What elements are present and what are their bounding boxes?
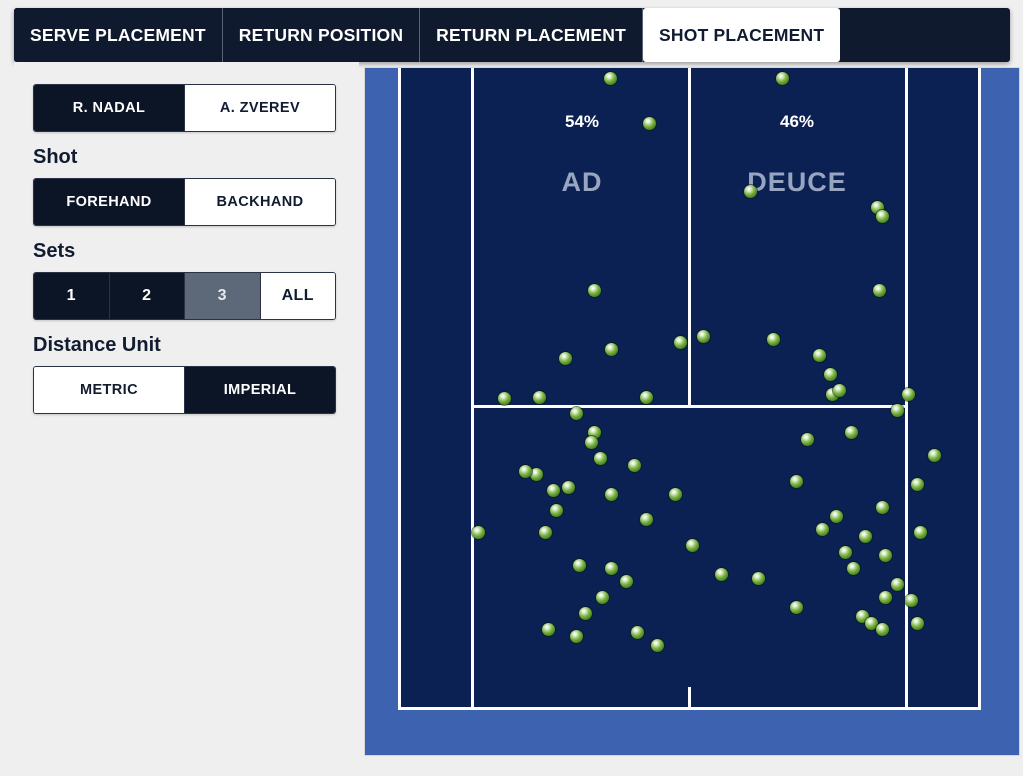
distance-option-imperial[interactable]: IMPERIAL xyxy=(185,367,335,413)
shot-dot xyxy=(640,513,653,526)
shot-dot xyxy=(902,388,915,401)
shot-dot xyxy=(876,623,889,636)
shot-dot xyxy=(847,562,860,575)
baseline-center-mark xyxy=(688,687,691,707)
shot-dot xyxy=(824,368,837,381)
sets-group-label: Sets xyxy=(33,240,359,263)
tab-bar: SERVE PLACEMENT RETURN POSITION RETURN P… xyxy=(14,8,1010,62)
shot-dot xyxy=(651,639,664,652)
center-service-line xyxy=(688,67,691,408)
shot-dot xyxy=(891,404,904,417)
shot-dot xyxy=(697,330,710,343)
deuce-zone-percent: 46% xyxy=(686,112,908,132)
shot-dot xyxy=(905,594,918,607)
sets-option-2[interactable]: 2 xyxy=(110,273,186,319)
player-option-zverev[interactable]: A. ZVEREV xyxy=(185,85,335,131)
shot-dot xyxy=(620,575,633,588)
shot-option-backhand[interactable]: BACKHAND xyxy=(185,179,335,225)
shot-option-forehand[interactable]: FOREHAND xyxy=(34,179,185,225)
shot-dot xyxy=(605,562,618,575)
shot-dot xyxy=(519,465,532,478)
shot-dot xyxy=(879,591,892,604)
shot-dot xyxy=(752,572,765,585)
shot-dot xyxy=(790,475,803,488)
shot-dot xyxy=(928,449,941,462)
tennis-court: 54% 46% AD DEUCE xyxy=(398,67,981,710)
shot-dot xyxy=(631,626,644,639)
shot-dot xyxy=(594,452,607,465)
shot-dot xyxy=(876,501,889,514)
shot-dot xyxy=(628,459,641,472)
shot-dot xyxy=(530,468,543,481)
sets-option-1[interactable]: 1 xyxy=(34,273,110,319)
shot-dot xyxy=(588,284,601,297)
shot-dot xyxy=(686,539,699,552)
shot-dot xyxy=(674,336,687,349)
shot-dot xyxy=(542,623,555,636)
shot-dot xyxy=(570,630,583,643)
shot-dot xyxy=(744,185,757,198)
tab-return-position[interactable]: RETURN POSITION xyxy=(223,8,420,62)
shot-group-label: Shot xyxy=(33,146,359,169)
player-option-nadal[interactable]: R. NADAL xyxy=(34,85,185,131)
shot-dot xyxy=(559,352,572,365)
shot-dot xyxy=(911,617,924,630)
tab-shot-placement[interactable]: SHOT PLACEMENT xyxy=(643,8,840,62)
shot-dot xyxy=(891,578,904,591)
sidebar-filters: R. NADAL A. ZVEREV Shot FOREHAND BACKHAN… xyxy=(14,62,359,768)
shot-dot xyxy=(596,591,609,604)
shot-dot xyxy=(873,284,886,297)
ad-zone-label: AD xyxy=(471,167,693,198)
shot-dot xyxy=(573,559,586,572)
shot-dot xyxy=(845,426,858,439)
player-toggle-group: R. NADAL A. ZVEREV xyxy=(33,84,336,132)
shot-dot xyxy=(498,392,511,405)
shot-dot xyxy=(605,343,618,356)
shot-dot xyxy=(776,72,789,85)
shot-dot xyxy=(813,349,826,362)
sets-option-3[interactable]: 3 xyxy=(185,273,261,319)
shot-dot xyxy=(547,484,560,497)
ad-zone-percent: 54% xyxy=(471,112,693,132)
shot-dot xyxy=(801,433,814,446)
shot-dot xyxy=(859,530,872,543)
shot-dot xyxy=(533,391,546,404)
distance-unit-toggle-group: METRIC IMPERIAL xyxy=(33,366,336,414)
shot-dot xyxy=(643,117,656,130)
shot-dot xyxy=(550,504,563,517)
shot-dot xyxy=(879,549,892,562)
shot-dot xyxy=(472,526,485,539)
shot-dot xyxy=(640,391,653,404)
distance-unit-group-label: Distance Unit xyxy=(33,334,359,357)
shot-dot xyxy=(767,333,780,346)
distance-option-metric[interactable]: METRIC xyxy=(34,367,185,413)
tab-serve-placement[interactable]: SERVE PLACEMENT xyxy=(14,8,223,62)
shot-dot xyxy=(579,607,592,620)
shot-dot xyxy=(539,526,552,539)
shot-dot xyxy=(876,210,889,223)
shot-dot xyxy=(830,510,843,523)
shot-dot xyxy=(911,478,924,491)
deuce-zone-label: DEUCE xyxy=(686,167,908,198)
court-visualization: 54% 46% AD DEUCE xyxy=(364,67,1020,756)
shot-dot xyxy=(816,523,829,536)
shot-dot xyxy=(715,568,728,581)
shot-dot xyxy=(833,384,846,397)
shot-dot xyxy=(839,546,852,559)
shot-dot xyxy=(562,481,575,494)
shot-toggle-group: FOREHAND BACKHAND xyxy=(33,178,336,226)
sets-option-all[interactable]: ALL xyxy=(261,273,336,319)
shot-dot xyxy=(585,436,598,449)
shot-dot xyxy=(604,72,617,85)
shot-dot xyxy=(669,488,682,501)
shot-dot xyxy=(605,488,618,501)
singles-sideline-left xyxy=(471,67,474,707)
shot-dot xyxy=(914,526,927,539)
sets-toggle-group: 1 2 3 ALL xyxy=(33,272,336,320)
shot-dot xyxy=(570,407,583,420)
app-root: SERVE PLACEMENT RETURN POSITION RETURN P… xyxy=(0,0,1023,776)
shot-dot xyxy=(790,601,803,614)
tab-return-placement[interactable]: RETURN PLACEMENT xyxy=(420,8,643,62)
